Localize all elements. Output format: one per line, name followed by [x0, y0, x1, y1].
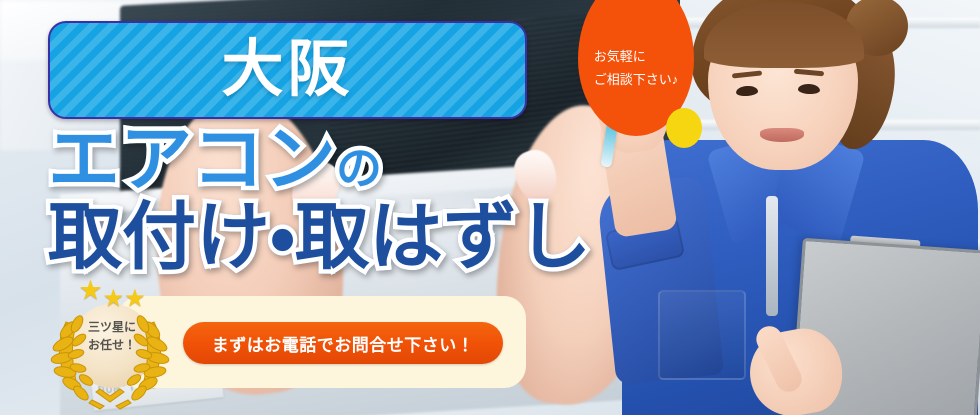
badge-label: 三ツ星に お任せ！	[70, 318, 154, 354]
region-badge: 大阪	[48, 21, 527, 119]
promo-banner: DON'T ADJ 大阪 エアコンの	[0, 0, 980, 415]
badge-label-line-2: お任せ！	[70, 336, 154, 354]
consultation-line-1: お気軽に	[594, 46, 679, 69]
uniform-zipper	[766, 196, 778, 316]
consultation-line-2: ご相談下さい♪	[594, 69, 679, 92]
headline-group: エアコンの 取付け・取はずし	[48, 124, 628, 274]
headline-line-1-main: エアコン	[48, 120, 336, 200]
headline-line-1-suffix: の	[336, 142, 382, 194]
uniform-pocket-left	[658, 290, 746, 380]
headline-line-1: エアコンの	[48, 124, 628, 196]
badge-label-line-1: 三ツ星に	[70, 318, 154, 336]
three-star-badge: ★★★ 三ツ星に お任せ！	[46, 288, 174, 410]
badge-star-row: ★★★	[66, 284, 158, 311]
yellow-accent-dot	[666, 108, 702, 148]
region-label: 大阪	[221, 39, 353, 101]
phone-inquiry-button[interactable]: まずはお電話でお問合せ下さい！	[183, 322, 503, 364]
mouth	[760, 128, 804, 142]
badge-star-2: ★	[103, 287, 125, 311]
badge-star-1: ★	[78, 277, 102, 304]
phone-inquiry-button-label: まずはお電話でお問合せ下さい！	[212, 331, 475, 356]
consultation-callout-text: お気軽に ご相談下さい♪	[594, 20, 679, 92]
badge-star-3: ★	[124, 287, 146, 311]
headline-line-2: 取付け・取はずし	[48, 200, 628, 274]
